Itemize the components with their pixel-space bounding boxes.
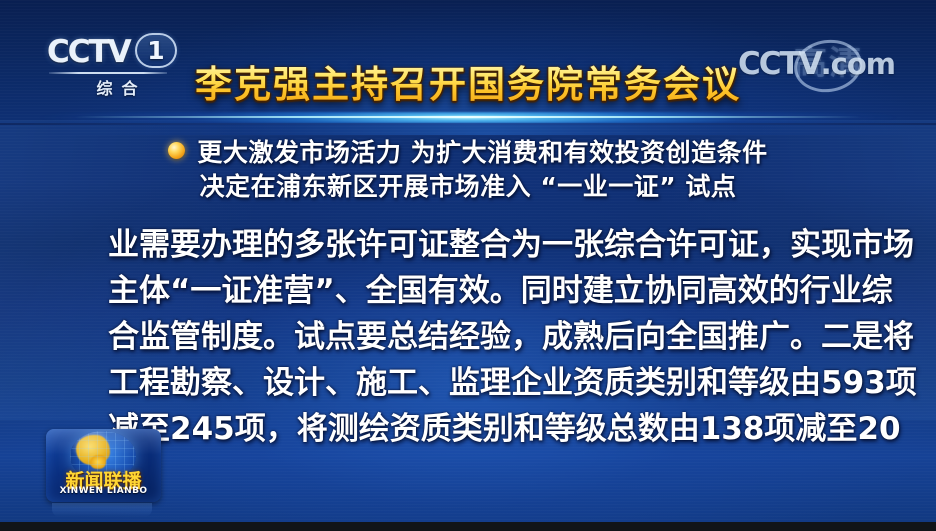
channel-number: 1 [135, 36, 177, 65]
subtitle-line-1: 更大激发市场活力 为扩大消费和有效投资创造条件 [0, 136, 936, 170]
body-line: 减至245项，将测绘资质类别和等级总数由138项减至20 [108, 406, 838, 452]
body-line: 主体“一证准营”、全国有效。同时建立协同高效的行业综 [108, 268, 838, 314]
news-body-text: 业需要办理的多张许可证整合为一张综合许可证，实现市场 主体“一证准营”、全国有效… [108, 222, 838, 452]
body-line: 工程勘察、设计、施工、监理企业资质类别和等级由593项 [108, 360, 838, 406]
bottom-letterbox-bar [0, 522, 936, 531]
xinwen-lianbo-badge: 新闻联播 XINWEN LIANBO [46, 429, 161, 502]
broadcast-screen: CCTV 1 综合 高清 CCTV.com 李克强主持召开国务院常务会议 更大激… [0, 0, 936, 531]
news-headline: 李克强主持召开国务院常务会议 [0, 62, 936, 108]
headline-divider-shadow [0, 123, 936, 125]
program-name-en: XINWEN LIANBO [46, 486, 161, 496]
bullet-dot-icon [168, 142, 185, 159]
subtitle-line-1-text: 更大激发市场活力 为扩大消费和有效投资创造条件 [197, 138, 767, 167]
body-line: 合监管制度。试点要总结经验，成熟后向全国推广。二是将 [108, 314, 838, 360]
news-subtitle-block: 更大激发市场活力 为扩大消费和有效投资创造条件 决定在浦东新区开展市场准入 “一… [0, 136, 936, 204]
subtitle-line-2: 决定在浦东新区开展市场准入 “一业一证” 试点 [0, 170, 936, 204]
badge-reflection [52, 503, 152, 517]
body-line: 业需要办理的多张许可证整合为一张综合许可证，实现市场 [108, 222, 838, 268]
headline-divider-core [75, 116, 861, 118]
